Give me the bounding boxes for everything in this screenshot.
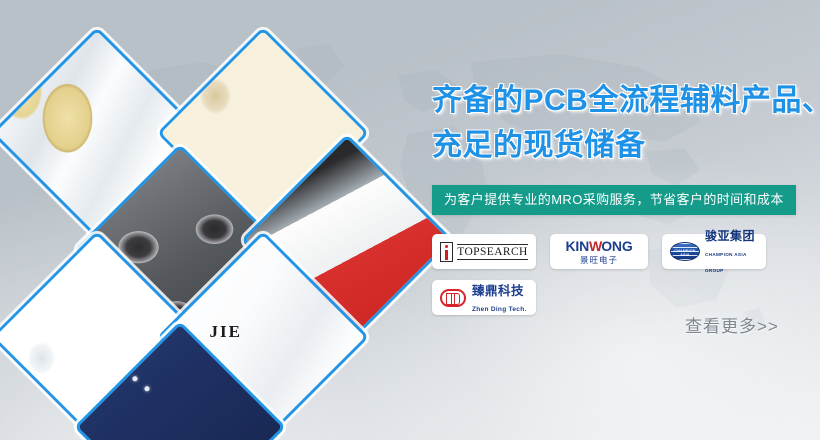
view-more-link[interactable]: 查看更多>>	[685, 312, 779, 337]
navy-panel-dots	[121, 366, 211, 426]
page-title: 齐备的PCB全流程辅料产品、 充足的现货储备	[432, 78, 812, 168]
zhen-ding-en-name: Zhen Ding Tech.	[472, 306, 527, 313]
kinwong-wordmark: KINWONG	[565, 238, 632, 254]
topsearch-wordmark: TOPSEARCH	[457, 244, 528, 260]
product-diamond-collage: JIE	[0, 0, 460, 440]
zhen-ding-emblem-icon	[440, 289, 466, 307]
subtitle-bar: 为客户提供专业的MRO采购服务，节省客户的时间和成本	[432, 185, 796, 215]
hero-content: 齐备的PCB全流程辅料产品、 充足的现货储备 为客户提供专业的MRO采购服务，节…	[432, 78, 812, 326]
kinwong-en-a: KIN	[565, 238, 589, 254]
client-logo-champion-asia[interactable]: CHAMPION ASIA 骏亚集团 CHAMPION ASIA GROUP	[662, 234, 766, 269]
client-logo-row-1: TOPSEARCH KINWONG 景旺电子 CHAMPION ASIA	[432, 234, 782, 269]
hero-banner: JIE 齐备的PCB全流程辅料产品、 充足的现货储备 为客户提供专业的MRO采购…	[0, 0, 820, 440]
kinwong-en-b: W	[589, 238, 601, 254]
client-logo-row-2: 臻鼎科技 Zhen Ding Tech.	[432, 280, 782, 315]
release-paper-label: JIE	[210, 322, 242, 342]
headline-line-1: 齐备的PCB全流程辅料产品、	[432, 84, 820, 117]
champion-asia-cn-name: 骏亚集团	[705, 229, 755, 243]
kinwong-en-c: ONG	[601, 238, 632, 254]
topsearch-i-box-icon	[440, 242, 453, 262]
champion-asia-en-name: CHAMPION ASIA GROUP	[705, 252, 746, 273]
client-logo-topsearch[interactable]: TOPSEARCH	[432, 234, 536, 269]
zhen-ding-cn-name: 臻鼎科技	[472, 284, 524, 298]
client-logo-kinwong[interactable]: KINWONG 景旺电子	[550, 234, 648, 269]
kinwong-cn-name: 景旺电子	[565, 256, 632, 265]
client-logo-zhen-ding[interactable]: 臻鼎科技 Zhen Ding Tech.	[432, 280, 536, 315]
champion-asia-globe-text: CHAMPION ASIA	[671, 249, 699, 257]
champion-asia-globe-icon: CHAMPION ASIA	[670, 242, 700, 261]
headline-line-2: 充足的现货储备	[432, 123, 812, 168]
client-logo-grid: TOPSEARCH KINWONG 景旺电子 CHAMPION ASIA	[432, 234, 782, 315]
